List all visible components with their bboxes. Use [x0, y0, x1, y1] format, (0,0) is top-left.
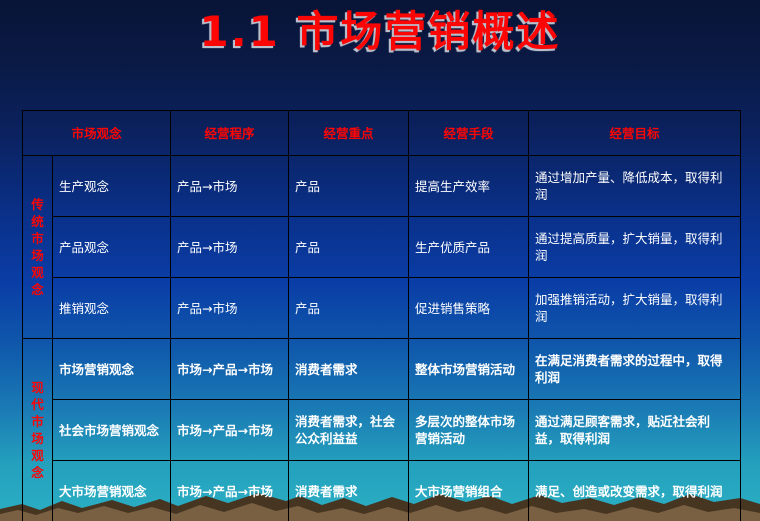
cell-focus: 消费者需求: [289, 339, 409, 400]
cell-concept: 生产观念: [53, 156, 171, 217]
cell-means: 整体市场营销活动: [409, 339, 529, 400]
cell-concept: 社会市场营销观念: [53, 400, 171, 461]
cell-procedure: 产品→市场: [171, 156, 289, 217]
group-label-char: 观: [29, 447, 46, 464]
table-row: 传 统 市 场 观 念 生产观念 产品→市场 产品 提高生产效率 通过增加产量、…: [23, 156, 741, 217]
cell-concept: 市场营销观念: [53, 339, 171, 400]
group-label-modern: 现 代 市 场 观 念: [23, 339, 53, 521]
table-row: 产品观念 产品→市场 产品 生产优质产品 通过提高质量，扩大销量，取得利润: [23, 217, 741, 278]
cell-procedure: 市场→产品→市场: [171, 461, 289, 521]
cell-goal: 满足、创造或改变需求，取得利润: [529, 461, 741, 521]
table-row: 大市场营销观念 市场→产品→市场 消费者需求 大市场营销组合 满足、创造或改变需…: [23, 461, 741, 521]
column-header-means: 经营手段: [409, 111, 529, 156]
cell-procedure: 产品→市场: [171, 278, 289, 339]
slide-title-bar: 1.1 市场营销概述: [0, 6, 760, 58]
cell-procedure: 市场→产品→市场: [171, 400, 289, 461]
cell-means: 生产优质产品: [409, 217, 529, 278]
group-label-char: 代: [29, 396, 46, 413]
cell-goal: 通过满足顾客需求，贴近社会利益，取得利润: [529, 400, 741, 461]
group-label-char: 市: [29, 413, 46, 430]
table-row: 社会市场营销观念 市场→产品→市场 消费者需求，社会公众利益益 多层次的整体市场…: [23, 400, 741, 461]
cell-means: 多层次的整体市场营销活动: [409, 400, 529, 461]
cell-focus: 消费者需求，社会公众利益益: [289, 400, 409, 461]
group-label-char: 市: [29, 230, 46, 247]
cell-focus: 消费者需求: [289, 461, 409, 521]
slide-canvas: 1.1 市场营销概述 市场观念 经营程序 经营重点 经营手段 经营目标 传: [0, 0, 760, 521]
group-label-char: 念: [29, 464, 46, 481]
group-label-char: 统: [29, 213, 46, 230]
cell-means: 提高生产效率: [409, 156, 529, 217]
cell-focus: 产品: [289, 156, 409, 217]
page-title: 1.1 市场营销概述: [199, 6, 560, 58]
cell-goal: 在满足消费者需求的过程中，取得利润: [529, 339, 741, 400]
table-row: 现 代 市 场 观 念 市场营销观念 市场→产品→市场 消费者需求 整体市场营销…: [23, 339, 741, 400]
cell-focus: 产品: [289, 278, 409, 339]
column-header-goal: 经营目标: [529, 111, 741, 156]
group-label-char: 观: [29, 264, 46, 281]
cell-concept: 产品观念: [53, 217, 171, 278]
column-header-focus: 经营重点: [289, 111, 409, 156]
group-label-char: 场: [29, 247, 46, 264]
cell-goal: 通过提高质量，扩大销量，取得利润: [529, 217, 741, 278]
cell-means: 促进销售策略: [409, 278, 529, 339]
column-header-concept: 市场观念: [23, 111, 171, 156]
group-label-char: 场: [29, 430, 46, 447]
group-label-char: 现: [29, 379, 46, 396]
cell-concept: 推销观念: [53, 278, 171, 339]
cell-focus: 产品: [289, 217, 409, 278]
marketing-concepts-table: 市场观念 经营程序 经营重点 经营手段 经营目标 传 统 市 场 观 念 生产观…: [22, 110, 741, 521]
group-label-char: 传: [29, 196, 46, 213]
group-label-char: 念: [29, 281, 46, 298]
cell-goal: 加强推销活动，扩大销量，取得利润: [529, 278, 741, 339]
cell-procedure: 市场→产品→市场: [171, 339, 289, 400]
cell-procedure: 产品→市场: [171, 217, 289, 278]
cell-concept: 大市场营销观念: [53, 461, 171, 521]
group-label-traditional: 传 统 市 场 观 念: [23, 156, 53, 339]
cell-means: 大市场营销组合: [409, 461, 529, 521]
cell-goal: 通过增加产量、降低成本，取得利润: [529, 156, 741, 217]
column-header-procedure: 经营程序: [171, 111, 289, 156]
table-row: 推销观念 产品→市场 产品 促进销售策略 加强推销活动，扩大销量，取得利润: [23, 278, 741, 339]
table-header-row: 市场观念 经营程序 经营重点 经营手段 经营目标: [23, 111, 741, 156]
